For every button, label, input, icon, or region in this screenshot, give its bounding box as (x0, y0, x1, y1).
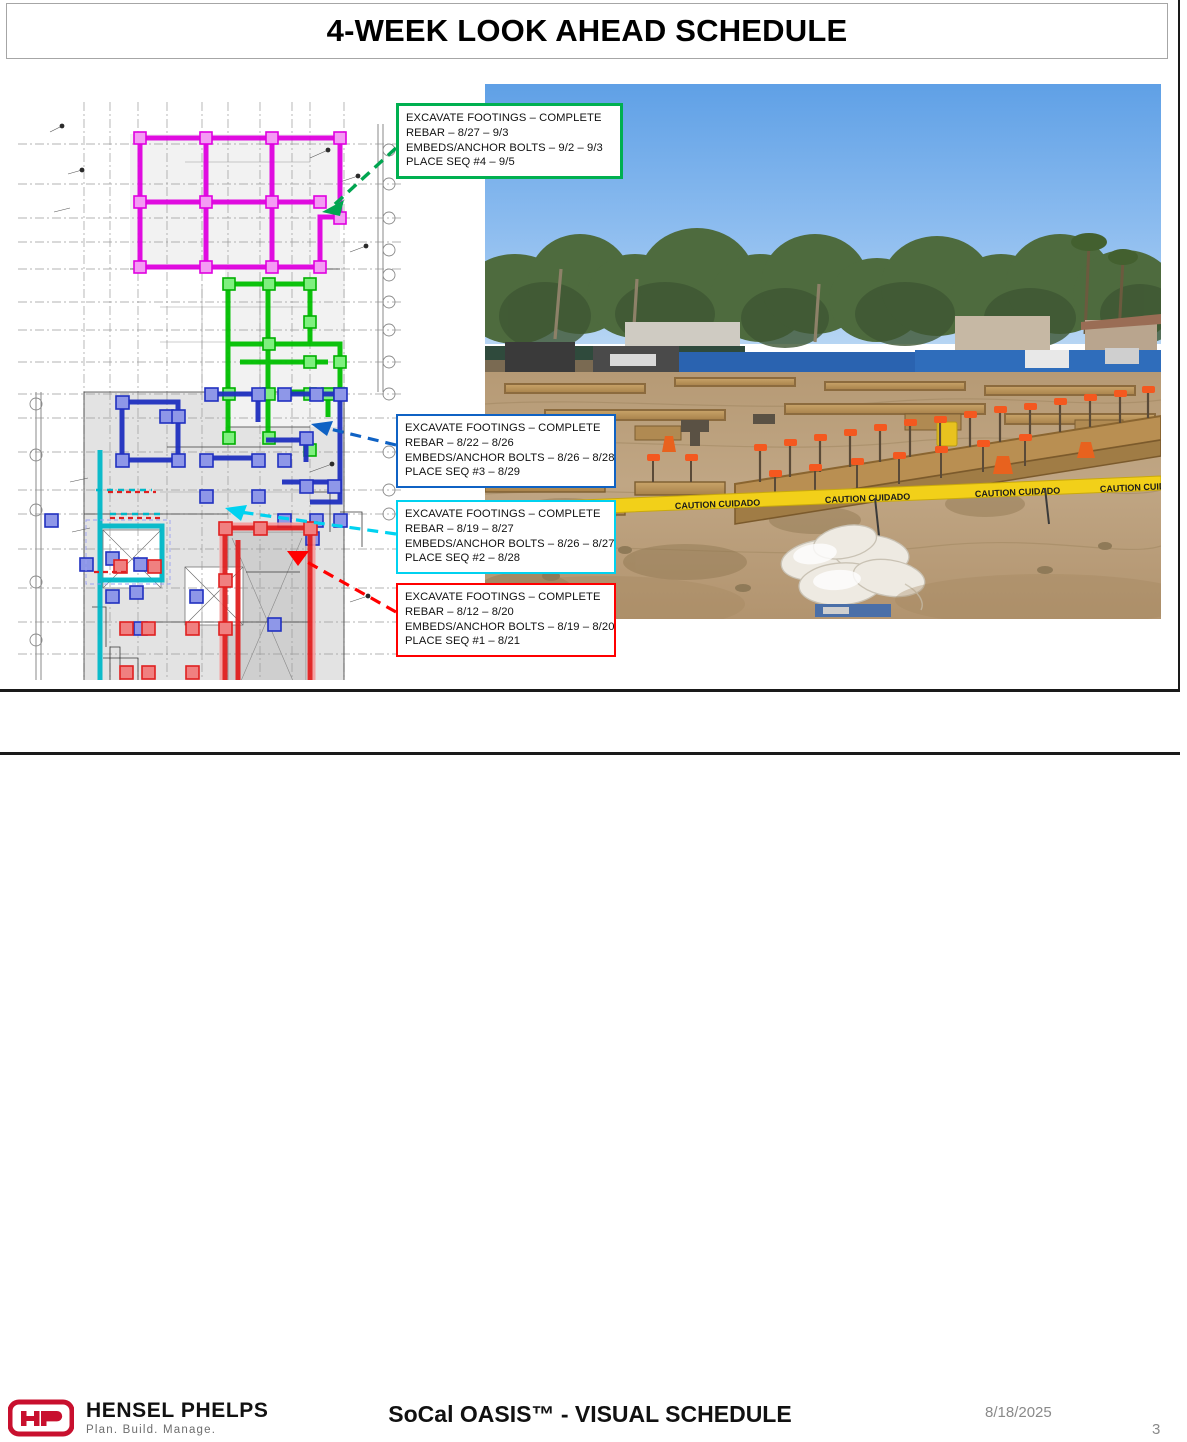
callout-seq1-line-3: EMBEDS/ANCHOR BOLTS – 8/19 – 8/20 (405, 620, 607, 635)
callout-seq2-line-4: PLACE SEQ #2 – 8/28 (405, 551, 607, 566)
callout-seq3-line-1: EXCAVATE FOOTINGS – COMPLETE (405, 421, 607, 436)
callout-seq3-line-3: EMBEDS/ANCHOR BOLTS – 8/26 – 8/28 (405, 451, 607, 466)
slide-footer: HENSEL PHELPS Plan. Build. Manage. SoCal… (0, 692, 1187, 754)
callout-seq4-line-1: EXCAVATE FOOTINGS – COMPLETE (406, 111, 613, 126)
callout-seq1-line-2: REBAR – 8/12 – 8/20 (405, 605, 607, 620)
callout-seq4[interactable]: EXCAVATE FOOTINGS – COMPLETE REBAR – 8/2… (396, 103, 623, 179)
callout-seq4-line-2: REBAR – 8/27 – 9/3 (406, 126, 613, 141)
callout-seq2-line-2: REBAR – 8/19 – 8/27 (405, 522, 607, 537)
project-title: SoCal OASIS™ - VISUAL SCHEDULE (330, 1392, 850, 1436)
callout-seq4-line-3: EMBEDS/ANCHOR BOLTS – 9/2 – 9/3 (406, 141, 613, 156)
callout-seq3[interactable]: EXCAVATE FOOTINGS – COMPLETE REBAR – 8/2… (396, 414, 616, 488)
slide-page-number: 3 (1152, 1421, 1160, 1438)
company-logo[interactable]: HENSEL PHELPS Plan. Build. Manage. (8, 1394, 328, 1442)
slide-right-edge-rule (1178, 0, 1180, 690)
company-logo-text: HENSEL PHELPS Plan. Build. Manage. (86, 1400, 268, 1437)
callout-seq4-line-4: PLACE SEQ #4 – 9/5 (406, 155, 613, 170)
callout-seq3-line-4: PLACE SEQ #3 – 8/29 (405, 465, 607, 480)
callout-seq2[interactable]: EXCAVATE FOOTINGS – COMPLETE REBAR – 8/1… (396, 500, 616, 574)
company-tagline: Plan. Build. Manage. (86, 1425, 268, 1437)
footer-bottom-rule (0, 752, 1180, 755)
callout-seq2-line-3: EMBEDS/ANCHOR BOLTS – 8/26 – 8/27 (405, 537, 607, 552)
page-title: 4-WEEK LOOK AHEAD SCHEDULE (327, 13, 848, 49)
slide-title-box: 4-WEEK LOOK AHEAD SCHEDULE (6, 3, 1168, 59)
callout-seq1-line-4: PLACE SEQ #1 – 8/21 (405, 634, 607, 649)
callout-seq1[interactable]: EXCAVATE FOOTINGS – COMPLETE REBAR – 8/1… (396, 583, 616, 657)
callout-seq3-line-2: REBAR – 8/22 – 8/26 (405, 436, 607, 451)
slide-date: 8/18/2025 (985, 1404, 1052, 1421)
company-name: HENSEL PHELPS (86, 1400, 268, 1421)
callout-seq2-line-1: EXCAVATE FOOTINGS – COMPLETE (405, 507, 607, 522)
slide-canvas: 4-WEEK LOOK AHEAD SCHEDULE (0, 0, 1187, 756)
callout-seq1-line-1: EXCAVATE FOOTINGS – COMPLETE (405, 590, 607, 605)
hensel-phelps-hp-monogram-icon (8, 1399, 74, 1437)
foundation-plan-drawing[interactable] (10, 62, 420, 680)
